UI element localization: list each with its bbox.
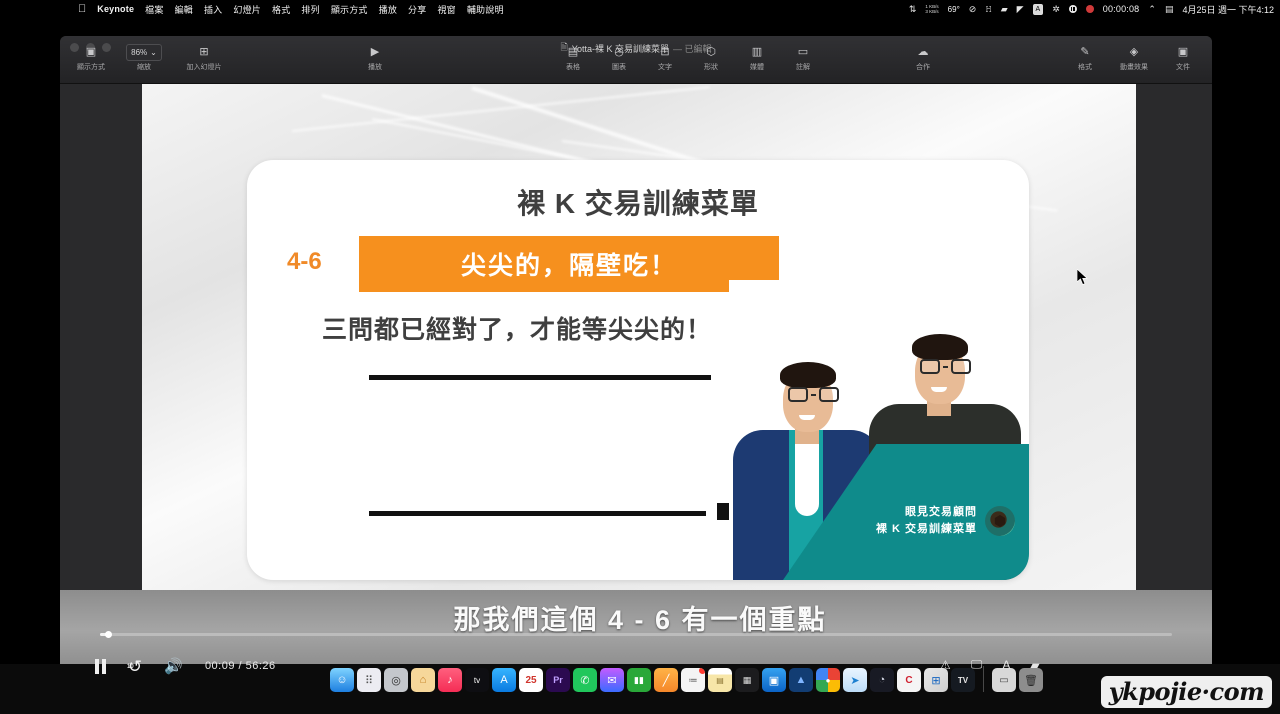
control-center-icon[interactable]: ▤ — [1165, 5, 1174, 14]
insert-comment-button[interactable]: ▭ 註解 — [780, 46, 826, 72]
dock-item-messenger[interactable]: ✉ — [600, 668, 624, 692]
price-line-upper — [369, 375, 711, 380]
shield-check-icon[interactable]: ⊘ — [969, 5, 977, 14]
zoom-button-label: 縮放 — [137, 62, 151, 72]
menu-item-format[interactable]: 格式 — [272, 3, 290, 16]
collaborate-button[interactable]: ☁ 合作 — [900, 46, 946, 72]
dock-item-home[interactable]: ⌂ — [411, 668, 435, 692]
format-button[interactable]: ✎ 格式 — [1062, 46, 1108, 72]
presenter-left-mouth — [799, 415, 815, 420]
overlay-tray-icons: ⚠ 🖵 A ▰ — [940, 657, 1040, 672]
glasses-bridge — [811, 394, 816, 396]
zoom-icon: 86% ⌄ — [126, 46, 162, 59]
dock-item-music[interactable]: ♪ — [438, 668, 462, 692]
dock-item-notes[interactable]: ▤ — [708, 668, 732, 692]
text-icon: ⊡ — [660, 46, 669, 59]
temperature-indicator[interactable]: 69° — [948, 5, 960, 14]
presenters-photo: 眼見交易顧問 裸 K 交易訓練菜單 — [729, 280, 1029, 580]
glasses-bridge — [943, 366, 948, 368]
display-icon[interactable]: 🖵 — [971, 657, 983, 672]
dock-item-line[interactable]: ✆ — [573, 668, 597, 692]
brand-line-2: 裸 K 交易訓練菜單 — [876, 523, 977, 535]
document-button-label: 文件 — [1176, 62, 1190, 72]
add-slide-button-label: 加入幻燈片 — [187, 62, 222, 72]
menu-item-view[interactable]: 顯示方式 — [331, 3, 368, 16]
brand-line-1: 眼見交易顧問 — [905, 506, 977, 518]
slide-subtitle: 三問都已經對了，才能等尖尖的！ — [322, 310, 712, 346]
animate-button-label: 動畫效果 — [1120, 62, 1148, 72]
video-controls: ↺ 10 🔊 00:09 / 56:26 — [95, 652, 276, 680]
menu-item-slide[interactable]: 幻燈片 — [233, 3, 261, 16]
format-button-label: 格式 — [1078, 62, 1092, 72]
insert-chart-label: 圖表 — [612, 62, 626, 72]
brand-text: 眼見交易顧問 裸 K 交易訓練菜單 — [876, 504, 977, 538]
toolbar-right-group: ✎ 格式 ◈ 動畫效果 ▣ 文件 — [1062, 46, 1206, 72]
price-line-lower — [369, 511, 706, 516]
chart-icon: ◷ — [614, 46, 624, 59]
menu-item-edit[interactable]: 編輯 — [175, 3, 193, 16]
menu-item-help[interactable]: 輔助說明 — [467, 3, 504, 16]
screen:  Keynote 檔案 編輯 插入 幻燈片 格式 排列 顯示方式 播放 分享 … — [0, 0, 1280, 714]
pen-icon[interactable]: ◤ — [1017, 5, 1024, 14]
toolbar-collaborate-group: ☁ 合作 — [900, 46, 946, 72]
recording-timer: 00:00:08 — [1103, 4, 1140, 14]
view-button[interactable]: ▣ 顯示方式 — [68, 46, 114, 72]
pause-button[interactable] — [95, 659, 106, 674]
dock-item-system[interactable]: ◎ — [384, 668, 408, 692]
toolbar-insert-group: ▤ 表格 ◷ 圖表 ⊡ 文字 ⬡ 形狀 ▥ 媒體 — [550, 46, 826, 72]
dock-item-obs[interactable]: ◔ — [870, 668, 894, 692]
highlight-banner-text: 尖尖的，隔壁吃！ — [461, 246, 677, 282]
dock-item-calculator[interactable]: ▦ — [735, 668, 759, 692]
dock-item-apple-tv[interactable]: tv — [465, 668, 489, 692]
menu-item-file[interactable]: 檔案 — [145, 3, 163, 16]
slide-canvas[interactable]: 裸 K 交易訓練菜單 4-6 尖尖的，隔壁吃！ 三問都已經對了，才能等尖尖的！ — [142, 84, 1136, 664]
macos-menu-bar:  Keynote 檔案 編輯 插入 幻燈片 格式 排列 顯示方式 播放 分享 … — [0, 0, 1280, 18]
macos-dock: ☺ ⠿ ◎ ⌂ ♪ tv A 25 Pr ✆ ✉ ▮▮ ╱ ≔ ▤ ▦ ▣ ▲ … — [330, 658, 1043, 692]
brand-logo-icon — [985, 506, 1015, 536]
view-button-label: 顯示方式 — [77, 62, 105, 72]
toolbar-play-group: ▶ 播放 — [352, 46, 398, 72]
menu-bar-status-items: ⇅ 1 KB/s 3 KB/s 69° ⊘ 𝙷 ▰ ◤ A ✲ 00:00:08… — [909, 0, 1274, 18]
play-icon: ▶ — [371, 46, 379, 59]
video-time-display: 00:09 / 56:26 — [205, 660, 276, 672]
dock-item-app-store[interactable]: A — [492, 668, 516, 692]
network-download-speed: 3 KB/s — [925, 9, 938, 14]
view-icon: ▣ — [86, 46, 96, 59]
recording-pause-icon[interactable] — [1069, 5, 1077, 13]
notification-badge — [699, 668, 705, 674]
animate-button[interactable]: ◈ 動畫效果 — [1108, 46, 1160, 72]
document-icon: ▣ — [1178, 46, 1188, 59]
battery-icon[interactable]: ▰ — [1030, 658, 1039, 672]
progress-scrubber-handle[interactable] — [105, 631, 112, 638]
zoom-value: 86% — [131, 46, 147, 59]
menu-item-keynote[interactable]: Keynote — [97, 4, 134, 14]
insert-text-button[interactable]: ⊡ 文字 — [642, 46, 688, 72]
menu-bar-items:  Keynote 檔案 編輯 插入 幻燈片 格式 排列 顯示方式 播放 分享 … — [78, 3, 504, 16]
section-number: 4-6 — [287, 248, 322, 276]
animate-icon: ◈ — [1130, 46, 1138, 59]
dock-item-calendar[interactable]: 25 — [519, 668, 543, 692]
image-icon[interactable]: ▰ — [1001, 5, 1008, 14]
bookmark-icon[interactable]: 𝙷 — [985, 5, 991, 14]
insert-table-label: 表格 — [566, 62, 580, 72]
dock-item-launchpad[interactable]: ⠿ — [357, 668, 381, 692]
insert-shape-button[interactable]: ⬡ 形狀 — [688, 46, 734, 72]
glasses-lens — [819, 387, 839, 402]
recording-dot-icon[interactable] — [1086, 5, 1094, 13]
insert-media-label: 媒體 — [750, 62, 764, 72]
dock-item-safari[interactable]: ➤ — [843, 668, 867, 692]
presenter-left-glasses-icon — [788, 387, 839, 402]
insert-text-label: 文字 — [658, 62, 672, 72]
network-arrows-icon[interactable]: ⇅ — [909, 5, 917, 14]
shape-icon: ⬡ — [706, 46, 716, 59]
dock-item-notes-orange[interactable]: ╱ — [654, 668, 678, 692]
glasses-lens — [920, 359, 940, 374]
menu-item-arrange[interactable]: 排列 — [301, 3, 319, 16]
insert-table-button[interactable]: ▤ 表格 — [550, 46, 596, 72]
wifi-icon[interactable]: ⌃ — [1148, 5, 1156, 14]
volume-button[interactable]: 🔊 — [164, 659, 183, 674]
menu-bar-clock[interactable]: 4月25日 週一 下午4:12 — [1182, 3, 1274, 16]
apple-logo-icon[interactable]:  — [78, 4, 86, 15]
highlight-banner: 尖尖的，隔壁吃！ — [359, 236, 779, 292]
table-icon: ▤ — [568, 46, 578, 59]
menu-item-share[interactable]: 分享 — [408, 3, 426, 16]
input-method-icon[interactable]: A — [1033, 4, 1044, 15]
video-progress-bar[interactable] — [60, 630, 1212, 638]
watermark: ykpojie·com — [1101, 676, 1272, 708]
dock-item-keynote[interactable]: ▣ — [762, 668, 786, 692]
add-slide-icon: ⊞ — [199, 46, 208, 59]
document-button[interactable]: ▣ 文件 — [1160, 46, 1206, 72]
collaborate-label: 合作 — [916, 62, 930, 72]
format-brush-icon: ✎ — [1080, 46, 1089, 59]
zoom-pill[interactable]: 86% ⌄ — [126, 44, 162, 61]
presenter-left-hair — [780, 362, 836, 388]
pause-icon — [95, 659, 106, 674]
chevron-down-icon: ⌄ — [150, 46, 157, 59]
play-button-label: 播放 — [368, 62, 382, 72]
insert-media-button[interactable]: ▥ 媒體 — [734, 46, 780, 72]
insert-shape-label: 形狀 — [704, 62, 718, 72]
network-speed-indicator[interactable]: 1 KB/s 3 KB/s — [925, 4, 938, 14]
progress-track[interactable] — [100, 633, 1172, 636]
slide-title: 裸 K 交易訓練菜單 — [247, 182, 1029, 222]
media-icon: ▥ — [752, 46, 762, 59]
volume-icon: 🔊 — [164, 659, 183, 674]
rewind-10-button[interactable]: ↺ 10 — [128, 658, 142, 675]
dock-item-camtasia[interactable]: C — [897, 668, 921, 692]
keynote-window: 🗎 Yotta-裸 K 交易訓練菜單 — 已編輯 ▣ 顯示方式 86% ⌄ — [60, 36, 1212, 664]
dock-item-numbers[interactable]: ▮▮ — [627, 668, 651, 692]
menu-item-insert[interactable]: 插入 — [204, 3, 222, 16]
presenter-right-hair — [912, 334, 968, 360]
toolbar-left-group: ▣ 顯示方式 86% ⌄ 縮放 ⊞ 加入幻燈片 — [68, 46, 234, 72]
play-button[interactable]: ▶ 播放 — [352, 46, 398, 72]
menu-item-play[interactable]: 播放 — [379, 3, 397, 16]
dock-item-tower[interactable]: ▲ — [789, 668, 813, 692]
glasses-lens — [788, 387, 808, 402]
presenter-right-glasses-icon — [920, 359, 971, 374]
menu-item-window[interactable]: 視窗 — [437, 3, 455, 16]
warning-icon[interactable]: ⚠ — [940, 658, 951, 672]
insert-comment-label: 註解 — [796, 62, 810, 72]
dock-item-chrome[interactable]: ● — [816, 668, 840, 692]
insert-chart-button[interactable]: ◷ 圖表 — [596, 46, 642, 72]
presenter-right-mouth — [931, 387, 947, 392]
glasses-lens — [951, 359, 971, 374]
brand-block: 眼見交易顧問 裸 K 交易訓練菜單 — [876, 504, 1015, 538]
bluetooth-icon[interactable]: ✲ — [1052, 5, 1060, 14]
comment-icon: ▭ — [798, 46, 808, 59]
zoom-control[interactable]: 86% ⌄ 縮放 — [114, 46, 174, 72]
slide-content-card[interactable]: 裸 K 交易訓練菜單 4-6 尖尖的，隔壁吃！ 三問都已經對了，才能等尖尖的！ — [247, 160, 1029, 580]
rewind-seconds-label: 10 — [127, 659, 134, 676]
ime-tray-icon[interactable]: A — [1002, 658, 1010, 672]
dock-item-reminders[interactable]: ≔ — [681, 668, 705, 692]
add-slide-button[interactable]: ⊞ 加入幻燈片 — [174, 46, 234, 72]
collaborate-icon: ☁ — [918, 46, 929, 59]
dock-item-premiere-pro[interactable]: Pr — [546, 668, 570, 692]
keynote-toolbar: 🗎 Yotta-裸 K 交易訓練菜單 — 已編輯 ▣ 顯示方式 86% ⌄ — [60, 36, 1212, 84]
dock-item-finder[interactable]: ☺ — [330, 668, 354, 692]
background-streak — [292, 86, 710, 132]
